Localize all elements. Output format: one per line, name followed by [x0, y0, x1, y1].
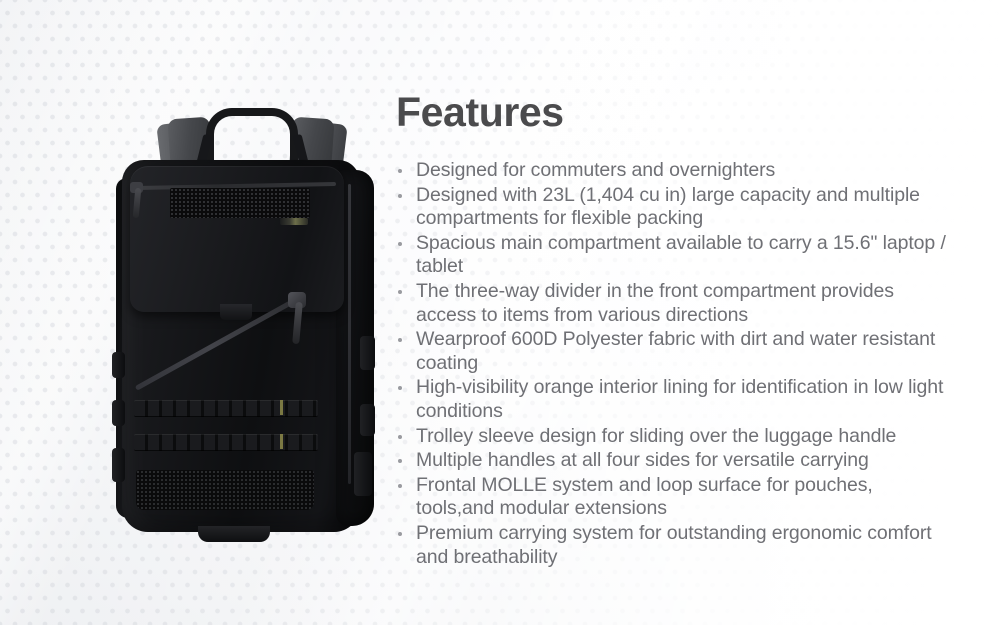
- bottom-loop-panel: [136, 470, 314, 510]
- list-item: Designed for commuters and overnighters: [396, 159, 956, 183]
- top-grab-handle: [206, 108, 298, 160]
- loop-velcro-patch: [170, 188, 310, 218]
- list-item: High-visibility orange interior lining f…: [396, 376, 956, 423]
- right-side-loop-2: [360, 404, 375, 436]
- right-side-loop-1: [360, 336, 375, 370]
- list-item: Trolley sleeve design for sliding over t…: [396, 425, 956, 449]
- left-side-loop-3: [112, 448, 125, 482]
- list-item: Multiple handles at all four sides for v…: [396, 449, 956, 473]
- features-content: Features Designed for commuters and over…: [396, 90, 956, 570]
- list-item: Premium carrying system for outstanding …: [396, 522, 956, 569]
- brand-logo-tag: [280, 218, 308, 225]
- list-item: Spacious main compartment available to c…: [396, 232, 956, 279]
- left-side-loop-1: [112, 352, 125, 378]
- list-item: Frontal MOLLE system and loop surface fo…: [396, 474, 956, 521]
- product-image-backpack: [108, 104, 398, 536]
- side-zipper: [348, 184, 351, 484]
- molle-accent-stripe-1: [280, 400, 283, 415]
- molle-accent-stripe-2: [280, 434, 283, 449]
- molle-webbing-row-1: [134, 400, 318, 417]
- bottom-grab-handle: [198, 526, 270, 542]
- list-item: Designed with 23L (1,404 cu in) large ca…: [396, 184, 956, 231]
- flap-bottom-tab: [220, 304, 252, 320]
- page-title: Features: [396, 90, 956, 135]
- list-item: Wearproof 600D Polyester fabric with dir…: [396, 328, 956, 375]
- molle-webbing-row-2: [134, 434, 318, 451]
- left-side-loop-2: [112, 400, 125, 426]
- features-list: Designed for commuters and overnighters …: [396, 159, 956, 569]
- right-side-handle: [354, 452, 372, 496]
- list-item: The three-way divider in the front compa…: [396, 280, 956, 327]
- feature-slide: Features Designed for commuters and over…: [0, 0, 1000, 625]
